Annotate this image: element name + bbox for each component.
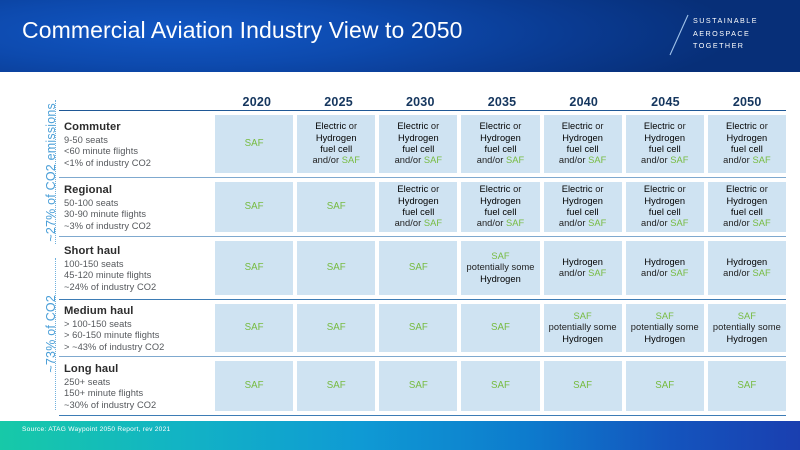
cell-line: fuel cell <box>567 144 599 155</box>
cell-text-saf: SAF <box>656 311 674 321</box>
cell-line: Electric or <box>644 184 686 195</box>
cell-line: Electric or <box>644 121 686 132</box>
cell-line: fuel cell <box>485 144 517 155</box>
cell-line: Hydrogen <box>644 133 685 144</box>
cell-text-dark: and/or <box>559 268 588 278</box>
cell-line: Hydrogen <box>480 133 521 144</box>
segment-name: Short haul <box>64 244 207 258</box>
cell-text-hydrogen: fuel cell <box>485 207 517 217</box>
cell-line: and/or SAF <box>641 218 689 229</box>
cell-line: Electric or <box>397 121 439 132</box>
cell-text-dark: and/or <box>723 218 752 228</box>
cell-line: Electric or <box>562 121 604 132</box>
segment-name: Regional <box>64 183 207 197</box>
cell-line: SAF <box>409 380 428 391</box>
roadmap-cell[interactable]: SAF <box>461 304 539 352</box>
column-header-year: 2025 <box>298 95 380 110</box>
cell-text-dark: and/or <box>395 155 424 165</box>
segment-detail: ~24% of industry CO2 <box>64 282 207 294</box>
segment-label: Short haul100-150 seats45-120 minute fli… <box>58 237 215 299</box>
cell-text-electric: Electric <box>726 121 760 131</box>
segment-label: Medium haul> 100-150 seats> 60-150 minut… <box>58 300 215 356</box>
cell-line: fuel cell <box>731 144 763 155</box>
roadmap-cell[interactable]: SAF <box>297 361 375 411</box>
roadmap-cell[interactable]: Electric orHydrogenfuel celland/or SAF <box>626 182 704 232</box>
segment-detail: ~3% of industry CO2 <box>64 221 207 233</box>
cell-line: and/or SAF <box>395 218 443 229</box>
cell-line: Hydrogen <box>562 257 603 268</box>
cell-line: SAF <box>327 322 346 333</box>
cell-text-dark: potentially some <box>713 322 781 332</box>
roadmap-cell[interactable]: Electric orHydrogenfuel celland/or SAF <box>461 115 539 173</box>
cell-text-dark: or <box>349 121 357 131</box>
cell-line: potentially some <box>713 322 781 333</box>
cell-line: SAF <box>327 201 346 212</box>
cell-line: fuel cell <box>485 207 517 218</box>
cell-text-hydrogen: fuel cell <box>649 144 681 154</box>
segment-detail: > 100-150 seats <box>64 319 207 331</box>
cell-line: fuel cell <box>402 207 434 218</box>
cell-line: Electric or <box>315 121 357 132</box>
segment-detail: 100-150 seats <box>64 259 207 271</box>
cell-text-saf: SAF <box>506 155 524 165</box>
segment-label: Commuter9-50 seats<60 minute flights<1% … <box>58 111 215 177</box>
column-header-year: 2040 <box>543 95 625 110</box>
cell-text-hydrogen: Hydrogen <box>644 334 685 344</box>
segment-detail: 30-90 minute flights <box>64 209 207 221</box>
cell-line: Hydrogen <box>480 274 521 285</box>
cell-text-hydrogen: Hydrogen <box>480 133 521 143</box>
table-row: Regional50-100 seats30-90 minute flights… <box>58 178 788 236</box>
cell-text-saf: SAF <box>245 322 264 333</box>
cell-text-saf: SAF <box>670 155 688 165</box>
cell-line: Hydrogen <box>562 334 603 345</box>
cell-text-hydrogen: fuel cell <box>731 207 763 217</box>
cell-text-electric: Electric <box>397 121 431 131</box>
cell-text-saf: SAF <box>670 268 688 278</box>
cell-text-dark: or <box>513 184 521 194</box>
cell-text-dark: and/or <box>723 155 752 165</box>
cell-text-dark: and/or <box>641 155 670 165</box>
cell-line: Hydrogen <box>398 133 439 144</box>
cell-text-dark: or <box>759 121 767 131</box>
column-header-year: 2035 <box>461 95 543 110</box>
row-cells: SAFElectric orHydrogenfuel celland/or SA… <box>215 111 788 177</box>
roadmap-cell[interactable]: SAF <box>461 361 539 411</box>
cell-text-saf: SAF <box>752 218 770 228</box>
cell-text-hydrogen: Hydrogen <box>480 196 521 206</box>
cell-text-hydrogen: Hydrogen <box>727 334 768 344</box>
cell-line: and/or SAF <box>312 155 360 166</box>
cell-text-saf: SAF <box>409 322 428 333</box>
cell-text-hydrogen: fuel cell <box>567 144 599 154</box>
cell-text-saf: SAF <box>506 218 524 228</box>
cell-line: SAF <box>491 251 509 262</box>
column-header-year: 2020 <box>216 95 298 110</box>
table-header-row: 2020202520302035204020452050 <box>58 88 788 110</box>
slide: Commercial Aviation Industry View to 205… <box>0 0 800 450</box>
cell-text-hydrogen: fuel cell <box>402 144 434 154</box>
roadmap-cell[interactable]: SAF <box>215 115 293 173</box>
cell-text-saf: SAF <box>588 218 606 228</box>
diagonal-slash-icon <box>669 14 691 56</box>
page-title: Commercial Aviation Industry View to 205… <box>22 17 462 44</box>
cell-line: potentially some <box>549 322 617 333</box>
cell-line: fuel cell <box>731 207 763 218</box>
cell-line: SAF <box>245 138 264 149</box>
cell-text-dark: and/or <box>641 268 670 278</box>
cell-text-dark: or <box>431 184 439 194</box>
roadmap-cell[interactable]: Electric orHydrogenfuel celland/or SAF <box>708 115 786 173</box>
cell-text-saf: SAF <box>574 311 592 321</box>
cell-line: and/or SAF <box>641 155 689 166</box>
cell-text-hydrogen: Hydrogen <box>480 274 521 284</box>
cell-text-hydrogen: fuel cell <box>402 207 434 217</box>
cell-line: and/or SAF <box>395 155 443 166</box>
cell-line: SAF <box>327 262 346 273</box>
roadmap-cell[interactable]: SAF <box>215 182 293 232</box>
cell-line: SAF <box>491 380 510 391</box>
cell-text-dark: and/or <box>477 155 506 165</box>
roadmap-cell[interactable]: Hydrogenand/or SAF <box>626 241 704 295</box>
cell-text-dark: potentially some <box>549 322 617 332</box>
segment-label: Long haul250+ seats150+ minute flights~3… <box>58 357 215 415</box>
cell-text-saf: SAF <box>424 155 442 165</box>
cell-text-saf: SAF <box>655 380 674 391</box>
cell-text-dark: potentially some <box>467 262 535 272</box>
cell-line: SAF <box>573 380 592 391</box>
cell-text-saf: SAF <box>491 380 510 391</box>
cell-text-hydrogen: Hydrogen <box>644 196 685 206</box>
cell-text-hydrogen: Hydrogen <box>316 133 357 143</box>
cell-text-electric: Electric <box>480 184 514 194</box>
cell-text-dark: or <box>595 184 603 194</box>
segment-detail: <1% of industry CO2 <box>64 158 207 170</box>
roadmap-table: 2020202520302035204020452050Commuter9-50… <box>58 88 788 416</box>
segment-detail: 9-50 seats <box>64 135 207 147</box>
source-note: Source: ATAG Waypoint 2050 Report, rev 2… <box>22 426 170 433</box>
row-cells: SAFSAFSAFSAFpotentially someHydrogenHydr… <box>215 237 788 299</box>
cell-line: Hydrogen <box>644 196 685 207</box>
cell-line: SAF <box>409 262 428 273</box>
cell-text-hydrogen: Hydrogen <box>562 133 603 143</box>
cell-line: Hydrogen <box>727 257 768 268</box>
cell-text-electric: Electric <box>644 184 678 194</box>
cell-text-dark: and/or <box>641 218 670 228</box>
cell-line: SAF <box>738 311 756 322</box>
cell-text-dark: or <box>595 121 603 131</box>
cell-text-hydrogen: Hydrogen <box>398 196 439 206</box>
segment-label: Regional50-100 seats30-90 minute flights… <box>58 178 215 236</box>
roadmap-cell[interactable]: SAFpotentially someHydrogen <box>461 241 539 295</box>
segment-name: Commuter <box>64 120 207 134</box>
roadmap-cell[interactable]: Electric orHydrogenfuel celland/or SAF <box>379 182 457 232</box>
cell-text-dark: potentially some <box>631 322 699 332</box>
row-divider <box>59 415 786 416</box>
roadmap-cell[interactable]: SAF <box>379 304 457 352</box>
cell-line: Hydrogen <box>316 133 357 144</box>
cell-text-dark: and/or <box>395 218 424 228</box>
segment-detail: > ~43% of industry CO2 <box>64 342 207 354</box>
cell-line: Hydrogen <box>727 334 768 345</box>
cell-text-hydrogen: fuel cell <box>320 144 352 154</box>
roadmap-cell[interactable]: Hydrogenand/or SAF <box>544 241 622 295</box>
brand-logo: SUSTAINABLE AEROSPACE TOGETHER <box>669 14 758 58</box>
cell-text-saf: SAF <box>245 138 264 149</box>
cell-line: Electric or <box>726 121 768 132</box>
cell-line: and/or SAF <box>723 155 771 166</box>
slide-header: Commercial Aviation Industry View to 205… <box>0 0 800 72</box>
cell-line: Electric or <box>480 121 522 132</box>
cell-text-saf: SAF <box>245 380 264 391</box>
cell-text-saf: SAF <box>327 201 346 212</box>
cell-text-electric: Electric <box>397 184 431 194</box>
logo-line-2: AEROSPACE <box>693 28 758 41</box>
bracket-dotted-line <box>55 258 56 410</box>
cell-text-hydrogen: fuel cell <box>485 144 517 154</box>
emissions-bracket: ~73% of CO2 <box>0 254 58 414</box>
segment-detail: ~30% of industry CO2 <box>64 400 207 412</box>
cell-text-saf: SAF <box>327 262 346 273</box>
segment-name: Long haul <box>64 362 207 376</box>
cell-line: Electric or <box>562 184 604 195</box>
roadmap-cell[interactable]: SAF <box>215 304 293 352</box>
cell-text-saf: SAF <box>327 380 346 391</box>
cell-text-electric: Electric <box>644 121 678 131</box>
cell-line: and/or SAF <box>559 155 607 166</box>
cell-text-electric: Electric <box>480 121 514 131</box>
roadmap-cell[interactable]: Electric orHydrogenfuel celland/or SAF <box>544 115 622 173</box>
cell-line: and/or SAF <box>477 218 525 229</box>
cell-line: SAF <box>409 322 428 333</box>
cell-text-saf: SAF <box>491 322 510 333</box>
brand-logo-text: SUSTAINABLE AEROSPACE TOGETHER <box>693 14 758 53</box>
cell-line: Electric or <box>480 184 522 195</box>
cell-line: and/or SAF <box>559 268 607 279</box>
cell-text-hydrogen: Hydrogen <box>727 257 768 267</box>
cell-line: and/or SAF <box>477 155 525 166</box>
column-header-year: 2030 <box>379 95 461 110</box>
cell-text-dark: or <box>513 121 521 131</box>
cell-line: and/or SAF <box>559 218 607 229</box>
cell-text-hydrogen: fuel cell <box>731 144 763 154</box>
roadmap-cell[interactable]: SAF <box>544 361 622 411</box>
table-row: Long haul250+ seats150+ minute flights~3… <box>58 357 788 415</box>
cell-text-saf: SAF <box>573 380 592 391</box>
cell-line: and/or SAF <box>641 268 689 279</box>
cell-line: SAF <box>491 322 510 333</box>
segment-detail: 150+ minute flights <box>64 388 207 400</box>
cell-text-saf: SAF <box>752 268 770 278</box>
cell-line: SAF <box>245 201 264 212</box>
cell-text-hydrogen: Hydrogen <box>644 133 685 143</box>
cell-line: fuel cell <box>649 144 681 155</box>
cell-text-saf: SAF <box>245 201 264 212</box>
cell-line: and/or SAF <box>723 218 771 229</box>
roadmap-cell[interactable]: Electric orHydrogenfuel celland/or SAF <box>708 182 786 232</box>
cell-text-saf: SAF <box>409 380 428 391</box>
cell-text-hydrogen: Hydrogen <box>727 196 768 206</box>
cell-text-dark: or <box>677 121 685 131</box>
row-cells: SAFSAFElectric orHydrogenfuel celland/or… <box>215 178 788 236</box>
segment-detail: 50-100 seats <box>64 198 207 210</box>
cell-text-saf: SAF <box>588 155 606 165</box>
cell-text-saf: SAF <box>342 155 360 165</box>
cell-line: potentially some <box>631 322 699 333</box>
roadmap-cell[interactable]: SAF <box>626 361 704 411</box>
roadmap-cell[interactable]: SAF <box>708 361 786 411</box>
cell-line: Hydrogen <box>398 196 439 207</box>
logo-line-1: SUSTAINABLE <box>693 15 758 28</box>
segment-detail: <60 minute flights <box>64 146 207 158</box>
cell-line: SAF <box>245 322 264 333</box>
cell-line: SAF <box>656 311 674 322</box>
logo-line-3: TOGETHER <box>693 40 758 53</box>
cell-text-hydrogen: Hydrogen <box>398 133 439 143</box>
roadmap-cell[interactable]: Hydrogenand/or SAF <box>708 241 786 295</box>
roadmap-cell[interactable]: SAFpotentially someHydrogen <box>708 304 786 352</box>
roadmap-cell[interactable]: SAF <box>215 361 293 411</box>
cell-text-dark: and/or <box>559 155 588 165</box>
cell-text-electric: Electric <box>726 184 760 194</box>
roadmap-cell[interactable]: SAF <box>297 241 375 295</box>
cell-line: fuel cell <box>649 207 681 218</box>
roadmap-cell[interactable]: SAF <box>297 304 375 352</box>
cell-line: Hydrogen <box>562 196 603 207</box>
cell-line: SAF <box>737 380 756 391</box>
cell-text-electric: Electric <box>562 121 596 131</box>
cell-text-saf: SAF <box>670 218 688 228</box>
roadmap-cell[interactable]: SAF <box>297 182 375 232</box>
cell-text-saf: SAF <box>491 251 509 261</box>
cell-line: Hydrogen <box>727 196 768 207</box>
cell-line: potentially some <box>467 262 535 273</box>
cell-text-electric: Electric <box>315 121 349 131</box>
cell-text-dark: or <box>759 184 767 194</box>
cell-text-dark: and/or <box>723 268 752 278</box>
roadmap-cell[interactable]: SAF <box>215 241 293 295</box>
cell-text-saf: SAF <box>737 380 756 391</box>
cell-line: fuel cell <box>402 144 434 155</box>
cell-text-saf: SAF <box>588 268 606 278</box>
cell-line: SAF <box>574 311 592 322</box>
row-cells: SAFSAFSAFSAFSAFpotentially someHydrogenS… <box>215 300 788 356</box>
cell-text-saf: SAF <box>409 262 428 273</box>
roadmap-cell[interactable]: SAF <box>379 241 457 295</box>
cell-line: and/or SAF <box>723 268 771 279</box>
cell-text-electric: Electric <box>562 184 596 194</box>
emissions-bracket-group: ~27% of CO2 emissions ~73% of CO2 <box>0 96 58 414</box>
roadmap-cell[interactable]: SAFpotentially someHydrogen <box>626 304 704 352</box>
emissions-bracket: ~27% of CO2 emissions <box>0 96 58 248</box>
cell-text-saf: SAF <box>245 262 264 273</box>
cell-text-hydrogen: Hydrogen <box>727 133 768 143</box>
cell-text-hydrogen: Hydrogen <box>562 257 603 267</box>
cell-text-dark: and/or <box>477 218 506 228</box>
roadmap-cell[interactable]: SAF <box>379 361 457 411</box>
cell-line: SAF <box>327 380 346 391</box>
cell-text-hydrogen: Hydrogen <box>562 196 603 206</box>
cell-text-hydrogen: Hydrogen <box>562 334 603 344</box>
roadmap-cell[interactable]: Electric orHydrogenfuel celland/or SAF <box>626 115 704 173</box>
table-row: Commuter9-50 seats<60 minute flights<1% … <box>58 111 788 177</box>
cell-line: Electric or <box>397 184 439 195</box>
cell-line: Hydrogen <box>727 133 768 144</box>
cell-line: fuel cell <box>320 144 352 155</box>
segment-detail: 250+ seats <box>64 377 207 389</box>
roadmap-cell[interactable]: Electric orHydrogenfuel celland/or SAF <box>379 115 457 173</box>
cell-line: Electric or <box>726 184 768 195</box>
cell-text-dark: or <box>431 121 439 131</box>
cell-line: Hydrogen <box>480 196 521 207</box>
cell-line: SAF <box>655 380 674 391</box>
cell-line: Hydrogen <box>562 133 603 144</box>
cell-line: Hydrogen <box>644 334 685 345</box>
cell-text-hydrogen: Hydrogen <box>644 257 685 267</box>
cell-text-dark: and/or <box>312 155 341 165</box>
table-row: Short haul100-150 seats45-120 minute fli… <box>58 237 788 299</box>
cell-text-saf: SAF <box>327 322 346 333</box>
cell-text-saf: SAF <box>424 218 442 228</box>
cell-text-saf: SAF <box>752 155 770 165</box>
cell-line: SAF <box>245 262 264 273</box>
cell-line: Hydrogen <box>644 257 685 268</box>
cell-text-hydrogen: fuel cell <box>567 207 599 217</box>
column-header-year: 2045 <box>625 95 707 110</box>
row-cells: SAFSAFSAFSAFSAFSAFSAF <box>215 357 788 415</box>
cell-text-saf: SAF <box>738 311 756 321</box>
column-header-year: 2050 <box>706 95 788 110</box>
cell-text-hydrogen: fuel cell <box>649 207 681 217</box>
slide-footer: Source: ATAG Waypoint 2050 Report, rev 2… <box>0 421 800 450</box>
bracket-dotted-line <box>55 100 56 244</box>
roadmap-cell[interactable]: Electric orHydrogenfuel celland/or SAF <box>297 115 375 173</box>
roadmap-cell[interactable]: Electric orHydrogenfuel celland/or SAF <box>544 182 622 232</box>
cell-text-dark: or <box>677 184 685 194</box>
cell-line: SAF <box>245 380 264 391</box>
cell-line: fuel cell <box>567 207 599 218</box>
roadmap-cell[interactable]: SAFpotentially someHydrogen <box>544 304 622 352</box>
segment-detail: > 60-150 minute flights <box>64 330 207 342</box>
roadmap-cell[interactable]: Electric orHydrogenfuel celland/or SAF <box>461 182 539 232</box>
table-row: Medium haul> 100-150 seats> 60-150 minut… <box>58 300 788 356</box>
cell-text-dark: and/or <box>559 218 588 228</box>
segment-detail: 45-120 minute flights <box>64 270 207 282</box>
segment-name: Medium haul <box>64 304 207 318</box>
